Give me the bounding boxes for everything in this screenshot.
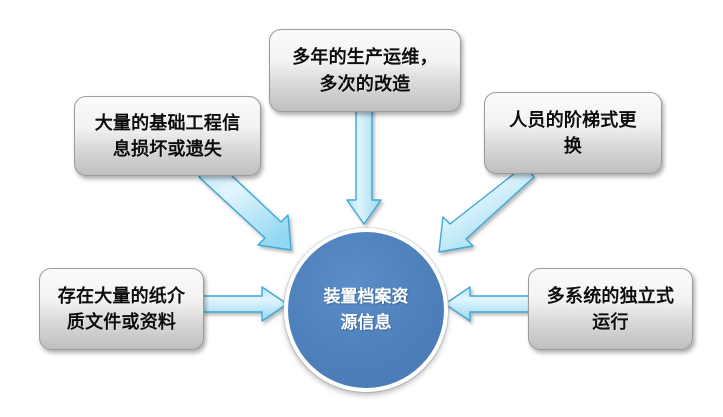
node-box-top-center[interactable]: 多年的生产运维， 多次的改造 [269, 29, 461, 112]
center-ellipse-shape[interactable]: 装置档案资 源信息 [284, 228, 448, 392]
arrow-top-right-icon[interactable] [439, 166, 534, 252]
node-box-bottom-left[interactable]: 存在大量的纸介 质文件或资料 [39, 268, 204, 350]
node-box-top-left[interactable]: 大量的基础工程信 息损坏或遗失 [74, 96, 261, 176]
arrow-left-icon[interactable] [203, 287, 287, 321]
node-label-top-right: 人员的阶梯式更 换 [509, 107, 636, 159]
node-label-top-center: 多年的生产运维， 多次的改造 [292, 44, 438, 96]
node-label-bottom-left: 存在大量的纸介 质文件或资料 [58, 283, 185, 335]
center-node[interactable]: 装置档案资 源信息 [284, 228, 448, 392]
node-label-top-left: 大量的基础工程信 息损坏或遗失 [95, 110, 241, 162]
node-box-top-right[interactable]: 人员的阶梯式更 换 [484, 92, 662, 174]
node-box-bottom-right[interactable]: 多系统的独立式 运行 [528, 268, 693, 350]
arrow-top-center-icon[interactable] [347, 108, 381, 224]
center-node-label: 装置档案资 源信息 [312, 284, 421, 337]
arrow-right-icon[interactable] [445, 287, 529, 321]
node-label-bottom-right: 多系统的独立式 运行 [547, 283, 674, 335]
diagram-canvas: 装置档案资 源信息 多年的生产运维， 多次的改造 大量的基础工程信 息损坏或遗失… [0, 0, 723, 417]
